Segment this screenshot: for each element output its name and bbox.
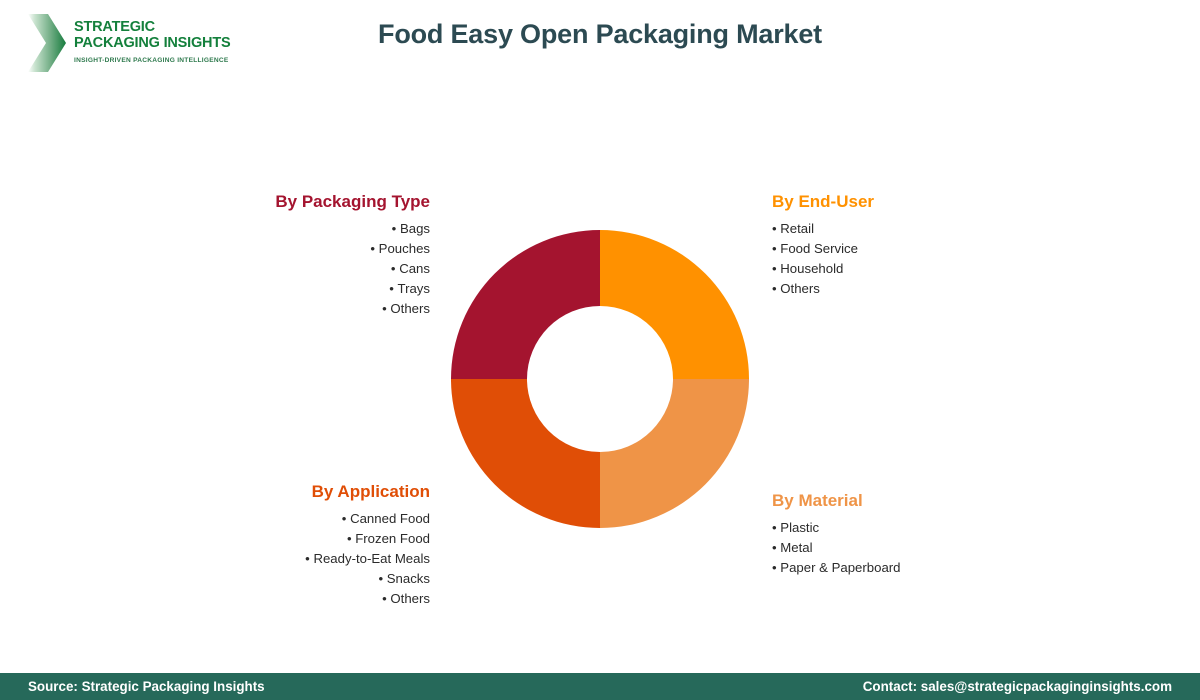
donut-slice-packaging-type <box>451 230 600 379</box>
list-item: • Others <box>180 589 430 609</box>
segment-material: By Material • Plastic • Metal • Paper & … <box>772 491 1052 578</box>
segment-end-user-title: By End-User <box>772 192 1052 212</box>
list-item: • Trays <box>180 279 430 299</box>
list-item-label: Retail <box>780 221 814 236</box>
list-item-label: Metal <box>780 540 812 555</box>
segment-application: By Application • Canned Food • Frozen Fo… <box>180 482 430 609</box>
footer-bar: Source: Strategic Packaging Insights Con… <box>0 673 1200 700</box>
list-item: • Bags <box>180 219 430 239</box>
list-item-label: Others <box>390 591 430 606</box>
segment-packaging-type-list: • Bags • Pouches • Cans • Trays • Others <box>180 219 430 319</box>
list-item: • Canned Food <box>180 509 430 529</box>
list-item-label: Paper & Paperboard <box>780 560 900 575</box>
list-item: • Household <box>772 259 1052 279</box>
list-item-label: Others <box>390 301 430 316</box>
logo-tagline: INSIGHT-DRIVEN PACKAGING INTELLIGENCE <box>74 57 230 64</box>
list-item: • Metal <box>772 538 1052 558</box>
segment-packaging-type: By Packaging Type • Bags • Pouches • Can… <box>180 192 430 319</box>
list-item-label: Food Service <box>780 241 858 256</box>
segment-end-user: By End-User • Retail • Food Service • Ho… <box>772 192 1052 299</box>
list-item-label: Household <box>780 261 843 276</box>
segment-material-title: By Material <box>772 491 1052 511</box>
donut-slice-material <box>600 379 749 528</box>
list-item: • Others <box>772 279 1052 299</box>
list-item-label: Pouches <box>379 241 430 256</box>
list-item-label: Frozen Food <box>355 531 430 546</box>
list-item-label: Trays <box>398 281 430 296</box>
list-item: • Plastic <box>772 518 1052 538</box>
market-segmentation-donut-chart <box>451 230 749 528</box>
footer-source: Source: Strategic Packaging Insights <box>28 679 265 694</box>
list-item: • Food Service <box>772 239 1052 259</box>
donut-slice-end-user <box>600 230 749 379</box>
segment-material-list: • Plastic • Metal • Paper & Paperboard <box>772 518 1052 578</box>
segment-application-list: • Canned Food • Frozen Food • Ready-to-E… <box>180 509 430 609</box>
list-item: • Cans <box>180 259 430 279</box>
list-item-label: Canned Food <box>350 511 430 526</box>
list-item: • Frozen Food <box>180 529 430 549</box>
list-item: • Pouches <box>180 239 430 259</box>
list-item-label: Ready-to-Eat Meals <box>313 551 430 566</box>
list-item-label: Snacks <box>387 571 430 586</box>
donut-slice-application <box>451 379 600 528</box>
list-item: • Retail <box>772 219 1052 239</box>
list-item-label: Plastic <box>780 520 819 535</box>
segment-packaging-type-title: By Packaging Type <box>180 192 430 212</box>
segment-end-user-list: • Retail • Food Service • Household • Ot… <box>772 219 1052 299</box>
list-item: • Snacks <box>180 569 430 589</box>
list-item-label: Cans <box>399 261 430 276</box>
list-item-label: Bags <box>400 221 430 236</box>
list-item: • Paper & Paperboard <box>772 558 1052 578</box>
segment-application-title: By Application <box>180 482 430 502</box>
page-title: Food Easy Open Packaging Market <box>0 19 1200 50</box>
footer-contact: Contact: sales@strategicpackaginginsight… <box>863 679 1172 694</box>
list-item: • Ready-to-Eat Meals <box>180 549 430 569</box>
list-item-label: Others <box>780 281 820 296</box>
list-item: • Others <box>180 299 430 319</box>
